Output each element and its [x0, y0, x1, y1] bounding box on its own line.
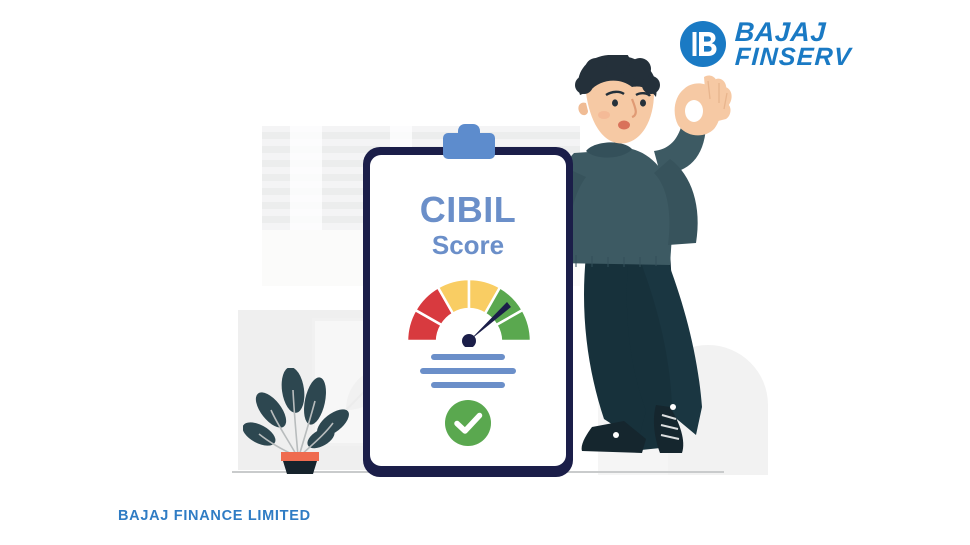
potted-plant [243, 368, 361, 474]
bajaj-finserv-logo: BAJAJ FINSERV [680, 14, 860, 74]
placeholder-line-2 [420, 368, 516, 374]
cibil-subtitle: Score [363, 230, 573, 261]
bajaj-finserv-wordmark: BAJAJ FINSERV [735, 19, 852, 70]
ok-hand-gesture [675, 75, 732, 135]
clipboard-text-lines [363, 354, 573, 388]
wordmark-line-2: FINSERV [734, 45, 852, 70]
gauge-hub [462, 334, 476, 347]
clipboard-clip [443, 133, 495, 159]
success-check-badge [444, 399, 492, 447]
cibil-score-clipboard: CIBIL Score [363, 147, 573, 477]
illustration-canvas: CIBIL Score [0, 0, 970, 545]
placeholder-line-1 [431, 354, 505, 360]
placeholder-line-3 [431, 382, 505, 388]
cibil-title: CIBIL [363, 189, 573, 231]
bajaj-b-mark-icon [680, 21, 726, 67]
cibil-score-gauge [401, 269, 537, 347]
footer-company-name: BAJAJ FINANCE LIMITED [118, 508, 311, 524]
wordmark-line-1: BAJAJ [734, 19, 852, 45]
